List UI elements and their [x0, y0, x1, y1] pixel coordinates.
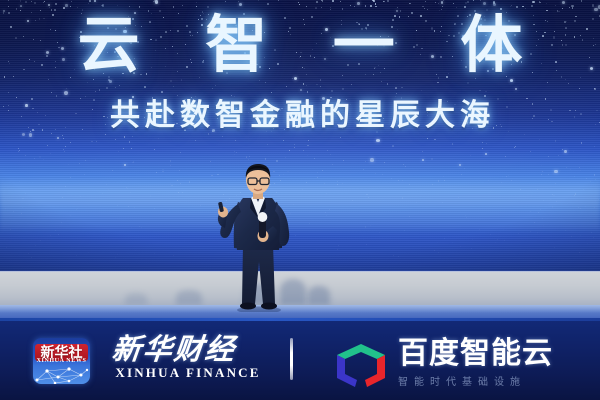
baidu-cloud-cube-icon — [333, 342, 389, 388]
network-node-pattern-icon — [33, 364, 90, 384]
banner-divider — [290, 338, 293, 380]
baidu-cloud-cn-label: 百度智能云 — [398, 339, 583, 370]
banner-top-edge — [0, 318, 600, 321]
xinhua-finance-en-label: XINHUA FINANCE — [112, 365, 264, 381]
screenshot-root: 云 智 一 体 共赴数智金融的星辰大海 — [0, 0, 600, 400]
sub-title: 共赴数智金融的星辰大海 — [0, 90, 600, 134]
screen-title-block: 云 智 一 体 共赴数智金融的星辰大海 — [0, 14, 600, 134]
baidu-cloud-slogan: 智能时代基础设施 — [398, 373, 583, 388]
speaker-figure — [205, 162, 310, 312]
xinhua-finance-cn-label: 新华财经 — [110, 334, 273, 364]
baidu-cloud-wordmark: 百度智能云 智能时代基础设施 — [398, 339, 583, 388]
xinhua-finance-logo: 新华财经 XINHUA FINANCE — [112, 334, 272, 381]
xinhua-news-logo: 新华社 XINHUA NEWS — [33, 338, 90, 384]
main-title: 云 智 一 体 — [0, 14, 600, 76]
